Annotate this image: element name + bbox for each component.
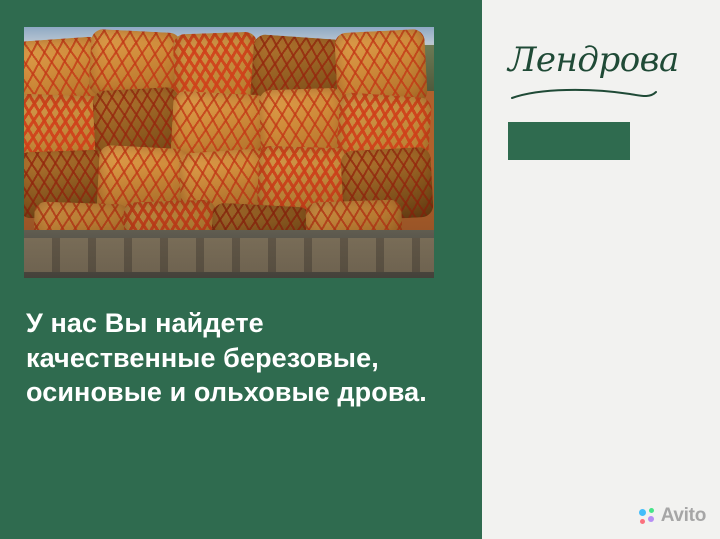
firewood-bundles-photo: [24, 27, 434, 278]
wooden-pallet: [24, 238, 434, 272]
firewood-stack: [24, 37, 434, 237]
headline-text: У нас Вы найдете качественные березовые,…: [26, 306, 456, 410]
avito-watermark: Avito: [639, 505, 706, 527]
accent-green-bar: [508, 122, 630, 160]
avito-logo-icon: [639, 508, 656, 525]
logo-swash-icon: [510, 86, 660, 104]
avito-watermark-label: Avito: [661, 505, 706, 527]
ad-banner: У нас Вы найдете качественные березовые,…: [0, 0, 720, 539]
